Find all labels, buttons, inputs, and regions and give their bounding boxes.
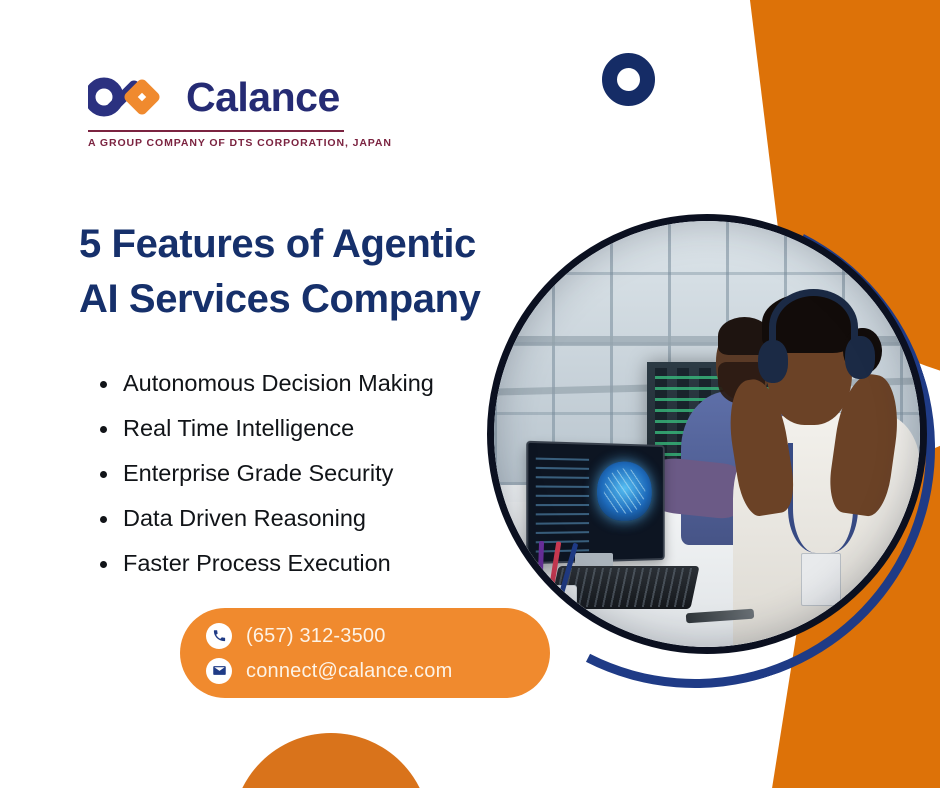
- phone-icon: [206, 623, 232, 649]
- envelope-icon: [206, 658, 232, 684]
- list-item: Faster Process Execution: [88, 552, 508, 576]
- list-item: Enterprise Grade Security: [88, 462, 508, 486]
- email-address: connect@calance.com: [246, 661, 452, 681]
- brand-logo[interactable]: Calance A GROUP COMPANY OF DTS CORPORATI…: [88, 70, 348, 149]
- calance-infinity-logo-icon: [88, 72, 174, 122]
- hero-photo-image: [494, 221, 920, 647]
- poster-canvas: Calance A GROUP COMPANY OF DTS CORPORATI…: [0, 0, 940, 788]
- phone-number: (657) 312-3500: [246, 626, 386, 646]
- list-item: Real Time Intelligence: [88, 417, 508, 441]
- contact-email-row[interactable]: connect@calance.com: [206, 658, 550, 684]
- logo-divider: [88, 130, 344, 132]
- bottom-orange-circle: [232, 733, 430, 788]
- logo-row: Calance: [88, 70, 348, 124]
- brand-name: Calance: [186, 77, 340, 118]
- feature-list: Autonomous Decision Making Real Time Int…: [88, 372, 508, 597]
- list-item: Data Driven Reasoning: [88, 507, 508, 531]
- list-item: Autonomous Decision Making: [88, 372, 508, 396]
- page-title: 5 Features of Agentic AI Services Compan…: [79, 217, 499, 327]
- navy-ring-decoration: [602, 53, 655, 106]
- hero-photo: [487, 214, 927, 654]
- brand-tagline: A GROUP COMPANY OF DTS CORPORATION, JAPA…: [88, 137, 348, 149]
